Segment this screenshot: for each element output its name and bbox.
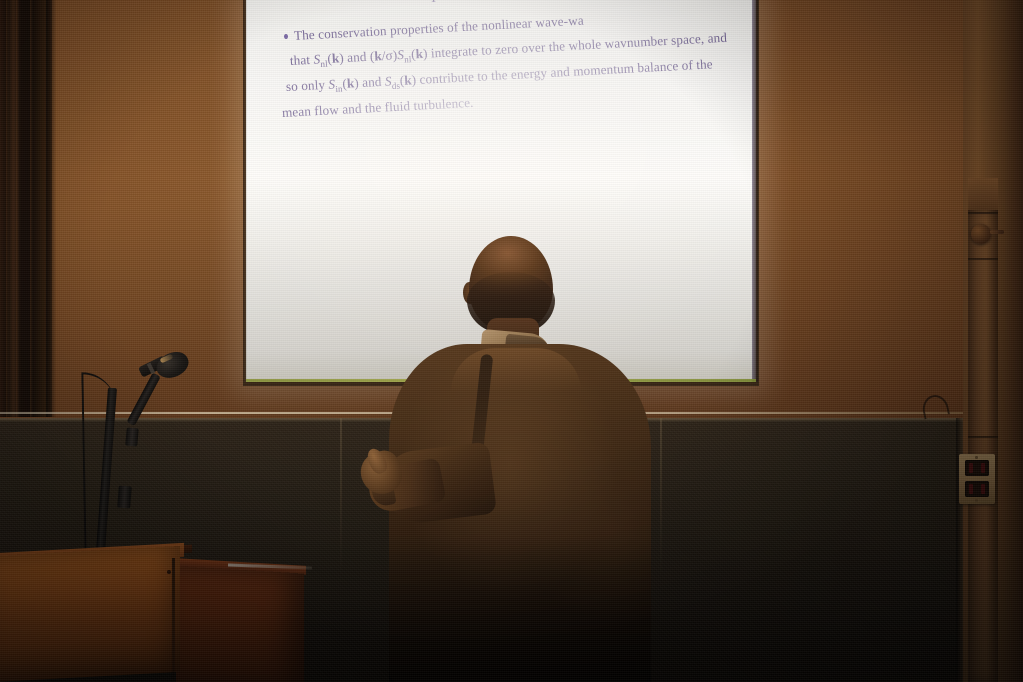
scene-vignette [0, 0, 1023, 682]
lecture-hall-photo: I The conservation properties of the non… [0, 0, 1023, 682]
